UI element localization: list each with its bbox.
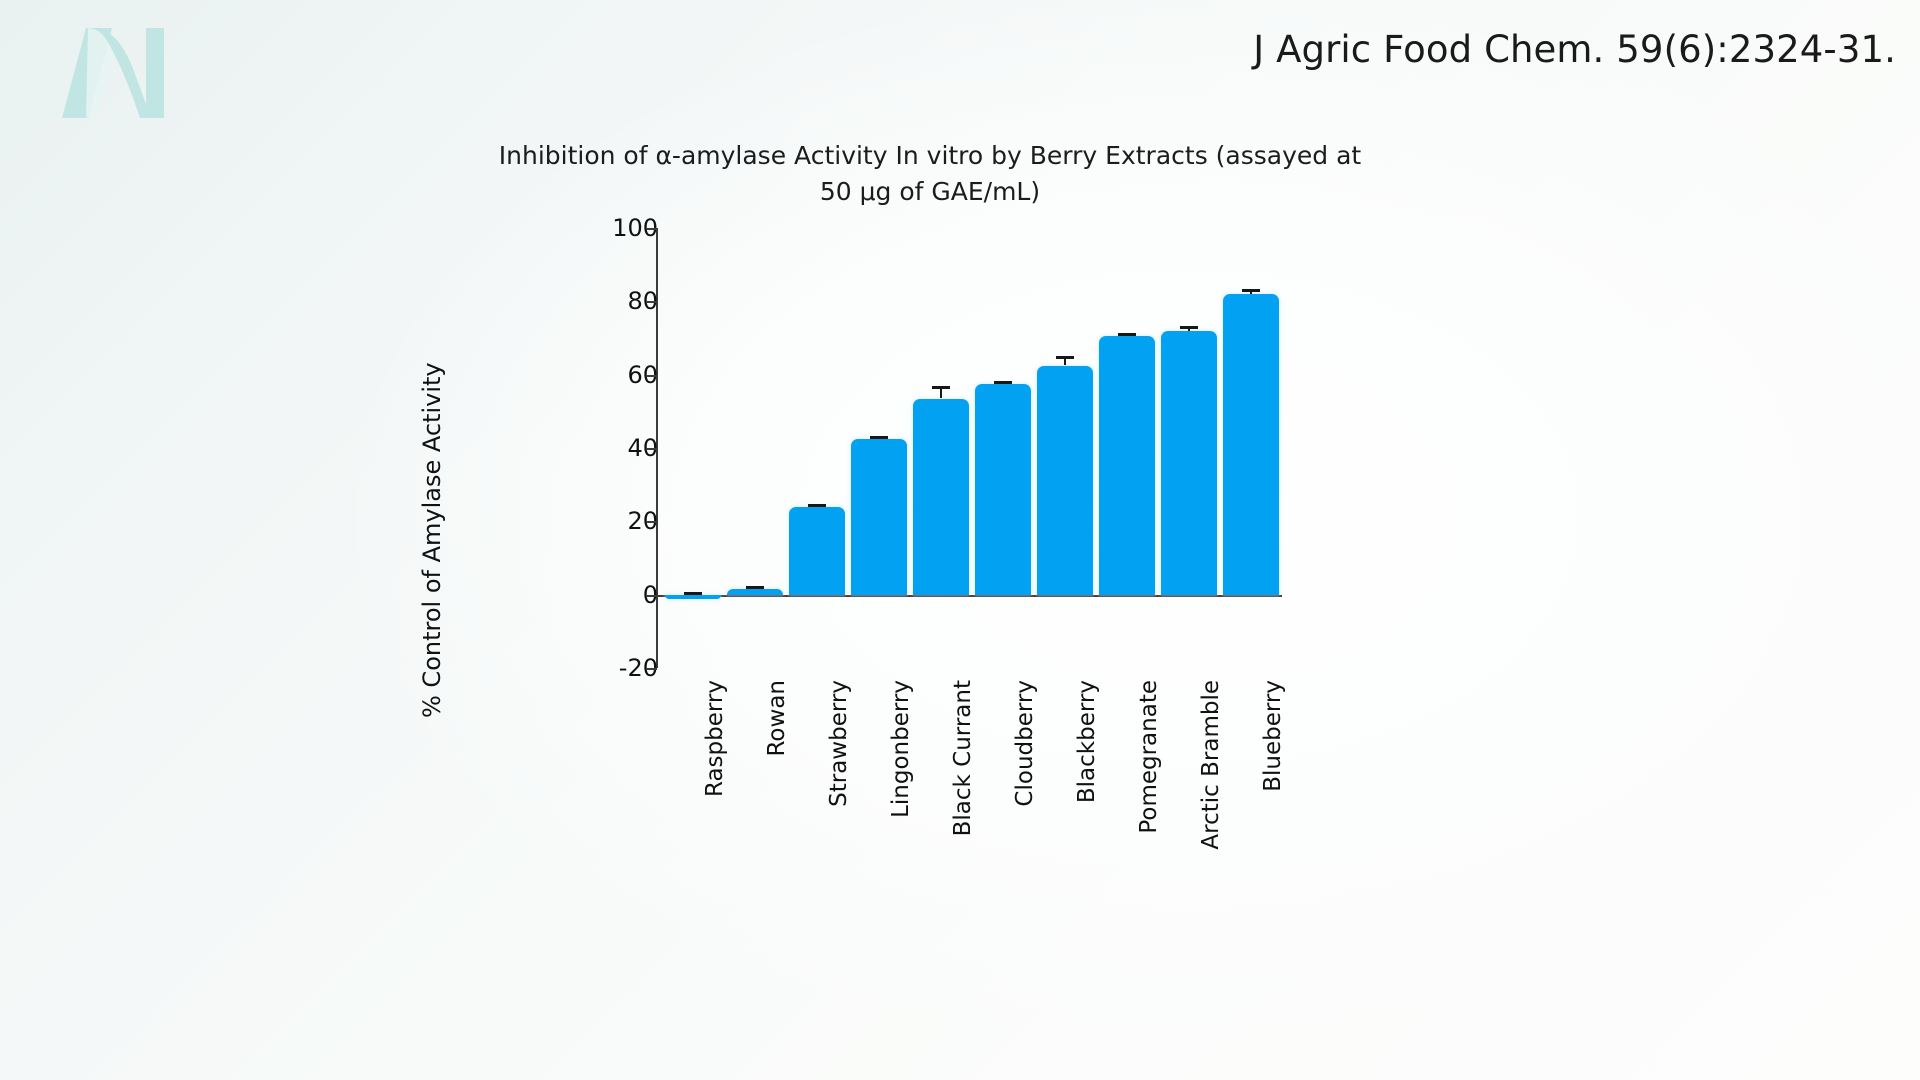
- y-tick-mark: [646, 448, 657, 450]
- bar-slot: Lingonberry: [848, 228, 910, 668]
- x-tick-label-text: Blackberry: [1074, 680, 1100, 803]
- y-tick-label: 20: [538, 507, 658, 535]
- error-bar-cap: [932, 386, 950, 389]
- bar-group: RaspberryRowanStrawberryLingonberryBlack…: [662, 228, 1282, 668]
- chart-title-line-1: Inhibition of α-amylase Activity In vitr…: [470, 138, 1390, 174]
- x-tick-label-text: Strawberry: [826, 680, 852, 807]
- bar-blackberry[interactable]: [1037, 366, 1093, 595]
- x-tick-label: Pomegranate: [1136, 680, 1162, 834]
- x-tick-label-text: Lingonberry: [888, 680, 914, 818]
- bar-slot: Cloudberry: [972, 228, 1034, 668]
- error-bar-cap: [1056, 356, 1074, 359]
- bar-slot: Rowan: [724, 228, 786, 668]
- bar-slot: Raspberry: [662, 228, 724, 668]
- bar-black-currant[interactable]: [913, 399, 969, 595]
- y-tick-mark: [646, 228, 657, 230]
- error-bar-cap: [1118, 333, 1136, 336]
- y-axis-title: % Control of Amylase Activity: [418, 378, 446, 718]
- chart-title-line-2: 50 μg of GAE/mL): [470, 174, 1390, 210]
- x-tick-label-text: Arctic Bramble: [1198, 680, 1224, 850]
- bar-slot: Black Currant: [910, 228, 972, 668]
- y-tick-mark: [646, 595, 657, 597]
- y-tick-label: 80: [538, 287, 658, 315]
- x-tick-label-text: Raspberry: [702, 680, 728, 797]
- error-bar-cap: [684, 592, 702, 595]
- y-tick-label: 40: [538, 434, 658, 462]
- bar-slot: Blackberry: [1034, 228, 1096, 668]
- journal-citation: J Agric Food Chem. 59(6):2324-31.: [1253, 28, 1896, 71]
- x-tick-label: Lingonberry: [888, 680, 914, 818]
- bar-arctic-bramble[interactable]: [1161, 331, 1217, 595]
- bar-blueberry[interactable]: [1223, 294, 1279, 595]
- x-tick-label: Black Currant: [950, 680, 976, 836]
- x-tick-label: Cloudberry: [1012, 680, 1038, 807]
- y-tick-mark: [646, 375, 657, 377]
- x-tick-label-text: Blueberry: [1260, 680, 1286, 792]
- chart-title: Inhibition of α-amylase Activity In vitr…: [470, 138, 1390, 210]
- plot-canvas: 100806040200-20 RaspberryRowanStrawberry…: [570, 228, 1370, 668]
- error-bar-cap: [870, 436, 888, 439]
- error-bar-cap: [1180, 326, 1198, 329]
- x-tick-label: Arctic Bramble: [1198, 680, 1224, 850]
- bar-slot: Strawberry: [786, 228, 848, 668]
- y-tick-mark: [646, 301, 657, 303]
- slide-canvas: J Agric Food Chem. 59(6):2324-31. Inhibi…: [0, 0, 1920, 1080]
- x-tick-label-text: Black Currant: [950, 680, 976, 836]
- x-tick-label-text: Cloudberry: [1012, 680, 1038, 807]
- error-bar-cap: [808, 504, 826, 507]
- plot-area: % Control of Amylase Activity 1008060402…: [470, 228, 1390, 888]
- error-bar-cap: [994, 381, 1012, 384]
- y-tick-label: 0: [538, 581, 658, 609]
- y-tick-label: -20: [538, 654, 658, 682]
- y-tick-label: 60: [538, 361, 658, 389]
- y-tick-mark: [646, 668, 657, 670]
- x-tick-label-text: Pomegranate: [1136, 680, 1162, 834]
- n-logo: [28, 14, 178, 124]
- error-bar-cap: [1242, 289, 1260, 292]
- bar-lingonberry[interactable]: [851, 439, 907, 595]
- y-tick-label: 100: [538, 214, 658, 242]
- x-tick-label-text: Rowan: [764, 680, 790, 757]
- x-tick-label: Blueberry: [1260, 680, 1286, 792]
- bar-slot: Blueberry: [1220, 228, 1282, 668]
- error-bar-cap: [746, 586, 764, 589]
- bar-rowan[interactable]: [727, 589, 783, 595]
- bar-pomegranate[interactable]: [1099, 336, 1155, 595]
- bar-strawberry[interactable]: [789, 507, 845, 594]
- chart-container: Inhibition of α-amylase Activity In vitr…: [470, 138, 1390, 898]
- bar-slot: Pomegranate: [1096, 228, 1158, 668]
- bar-slot: Arctic Bramble: [1158, 228, 1220, 668]
- x-tick-label: Strawberry: [826, 680, 852, 807]
- x-tick-label: Rowan: [764, 680, 790, 757]
- x-tick-label: Raspberry: [702, 680, 728, 797]
- bar-cloudberry[interactable]: [975, 384, 1031, 595]
- x-tick-label: Blackberry: [1074, 680, 1100, 803]
- y-tick-mark: [646, 521, 657, 523]
